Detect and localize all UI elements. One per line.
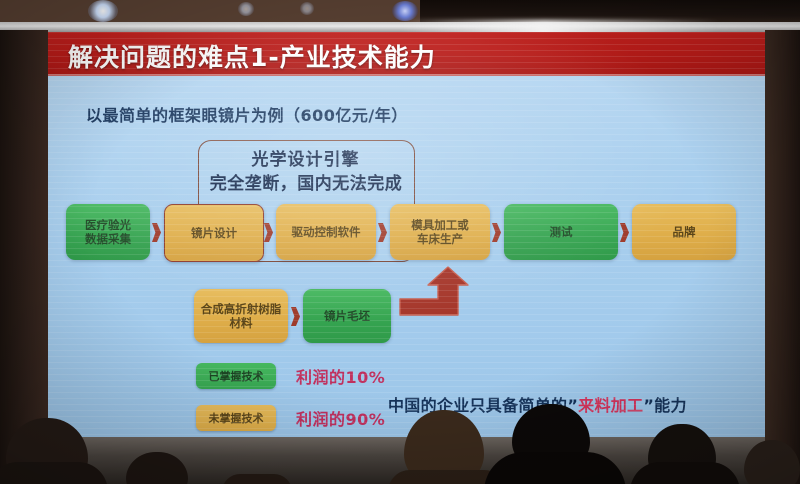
flow-box-label: 镜片设计 [191,226,237,240]
chevron-connector-6 [291,307,300,326]
legend-label: 已掌握技术 [209,368,264,384]
flow-box-label: 镜片毛坯 [324,309,370,323]
flow-box-mold-machining[interactable]: 模具加工或车床生产 [390,204,490,260]
flow-box-label: 医疗验光数据采集 [85,218,131,246]
wall-left [0,30,48,484]
flow-box-label: 驱动控制软件 [292,225,361,239]
audience-head-7 [222,474,292,484]
chevron-connector-5 [620,223,629,242]
flow-box-lens-design[interactable]: 镜片设计 [164,204,264,262]
chevron-connector-4 [492,223,501,242]
audience-shoulders-5 [630,462,740,484]
caption-after: 能力 [654,396,687,415]
flow-box-label: 合成高折射树脂材料 [201,302,282,330]
audience-shoulders-1 [0,462,108,484]
flow-box-testing[interactable]: 测试 [504,204,618,260]
stage-light-1 [88,0,118,22]
flow-box-drive-control-software[interactable]: 驱动控制软件 [276,204,376,260]
callout-line-1: 光学设计引擎 [198,145,413,170]
legend-value-not-mastered: 利润的90% [296,406,385,430]
stage-light-2 [392,1,418,21]
legend-swatch-mastered: 已掌握技术 [196,363,276,389]
slide-title: 解决问题的难点1-产业技术能力 [68,38,436,74]
callout-line-2: 完全垄断，国内无法完成 [180,169,432,194]
upward-bent-arrow [398,265,470,327]
flow-box-label: 模具加工或车床生产 [411,218,469,246]
wall-right [765,30,800,484]
flow-box-label: 测试 [550,225,573,239]
flow-box-brand[interactable]: 品牌 [632,204,736,260]
presentation-slide: 解决问题的难点1-产业技术能力 以最简单的框架眼镜片为例（600亿元/年） 光学… [48,32,765,437]
flow-box-label: 品牌 [673,225,696,239]
conference-room-photo: 解决问题的难点1-产业技术能力 以最简单的框架眼镜片为例（600亿元/年） 光学… [0,0,800,484]
flow-box-lens-blank[interactable]: 镜片毛坯 [303,289,391,343]
stage-light-3 [238,2,254,16]
ceiling-panel-left [0,0,420,24]
slide-subtitle: 以最简单的框架眼镜片为例（600亿元/年） [86,102,408,126]
audience-shoulders-4 [484,452,626,484]
stage-light-4 [300,2,314,15]
flow-box-medical-optometry[interactable]: 医疗验光数据采集 [66,204,150,260]
caption-highlight: 来料加工 [578,396,643,415]
flow-box-high-index-resin[interactable]: 合成高折射树脂材料 [194,289,288,343]
title-underline [48,74,765,76]
chevron-connector-1 [152,223,161,242]
caption-quote-close: ” [643,396,654,415]
legend-value-mastered: 利润的10% [296,364,385,388]
legend-swatch-not-mastered: 未掌握技术 [196,405,276,431]
legend-label: 未掌握技术 [209,410,264,426]
